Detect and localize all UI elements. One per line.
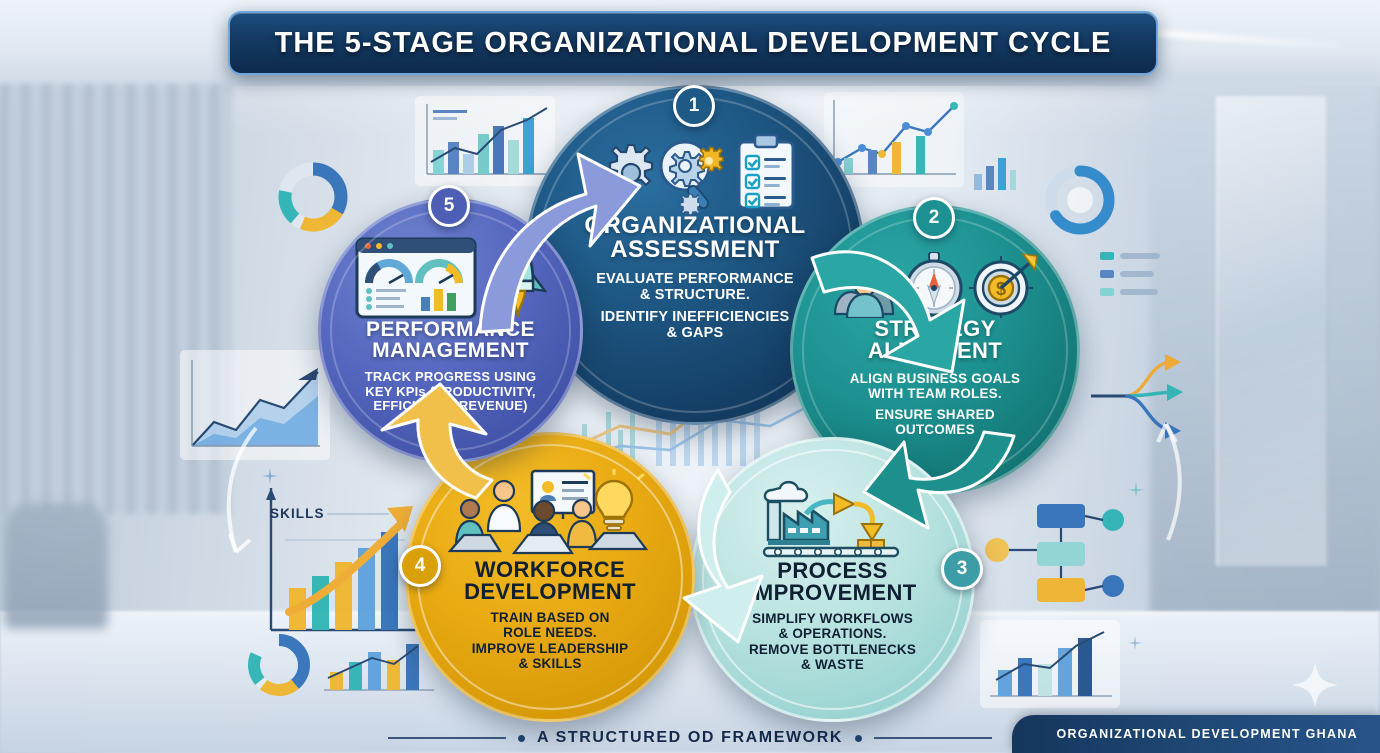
- stage-2-description: ALIGN BUSINESS GOALS WITH TEAM ROLES. EN…: [850, 371, 1021, 438]
- list-lines-decoration: [1098, 248, 1162, 308]
- plus-sparkle-icon: [1128, 636, 1142, 650]
- stage-1-title: ORGANIZATIONAL ASSESSMENT: [584, 214, 805, 263]
- page-title-bar: THE 5-STAGE ORGANIZATIONAL DEVELOPMENT C…: [228, 11, 1158, 75]
- stage-5-title-line1: PERFORMANCE: [366, 319, 535, 340]
- progress-ring-decoration: [1040, 160, 1120, 240]
- stage-1-icons: [593, 132, 797, 210]
- page-title: THE 5-STAGE ORGANIZATIONAL DEVELOPMENT C…: [275, 27, 1112, 60]
- stage-1-desc-line4: & GAPS: [596, 325, 794, 342]
- stage-5-icons: [355, 239, 547, 319]
- stage-2-desc-line2: WITH TEAM ROLES.: [850, 386, 1021, 401]
- stage-number-badge-2: 2: [913, 197, 955, 239]
- stage-5-desc-line1: TRACK PROGRESS USING: [365, 370, 537, 385]
- stage-4-title-line2: DEVELOPMENT: [464, 581, 636, 603]
- stage-3-title-line1: PROCESS: [748, 560, 916, 582]
- flowchart-decoration: [975, 490, 1135, 610]
- compass-icon: [901, 252, 967, 318]
- stage-number-badge-5: 5: [428, 185, 470, 227]
- stage-2-icons: $: [831, 252, 1039, 318]
- stage-2-title: STRATEGY ALIGNMENT: [868, 318, 1002, 363]
- stage-4-desc-line2: ROLE NEEDS.: [472, 625, 629, 640]
- mini-bar-chart-decoration: [972, 148, 1018, 192]
- stage-3-icons: [754, 482, 912, 560]
- svg-text:$: $: [996, 279, 1006, 299]
- stage-3-title: PROCESS IMPROVEMENT: [748, 560, 916, 605]
- stage-2-desc-line1: ALIGN BUSINESS GOALS: [850, 371, 1021, 386]
- stage-4-title-line1: WORKFORCE: [464, 559, 636, 581]
- stage-4-icons: [444, 473, 656, 559]
- stage-3-description: SIMPLIFY WORKFLOWS & OPERATIONS. REMOVE …: [749, 611, 916, 673]
- clipboard-checklist-icon: [735, 134, 797, 210]
- team-laptops-icon: [444, 469, 656, 559]
- stage-4-description: TRAIN BASED ON ROLE NEEDS. IMPROVE LEADE…: [472, 610, 629, 672]
- donut-chart-decoration: [276, 160, 350, 234]
- stage-3-desc-line3: REMOVE BOTTLENECKS: [749, 642, 916, 657]
- stage-1-title-line2: ASSESSMENT: [584, 238, 805, 262]
- brand-label: ORGANIZATIONAL DEVELOPMENT GHANA: [1056, 727, 1358, 741]
- rocket-icon: [489, 235, 547, 319]
- footer-dot-right: [855, 735, 862, 742]
- plus-sparkle-icon: [262, 468, 278, 484]
- stage-3-title-line2: IMPROVEMENT: [748, 582, 916, 604]
- cloud-icon: [764, 482, 806, 501]
- footer-dot-left: [518, 735, 525, 742]
- footer-caption: A STRUCTURED OD FRAMEWORK: [537, 729, 843, 747]
- skills-label: SKILLS: [270, 506, 325, 521]
- stage-1-desc-line1: EVALUATE PERFORMANCE: [596, 271, 794, 288]
- stage-2-desc-line3: ENSURE SHARED: [850, 407, 1021, 422]
- sparkle-icon: [1290, 660, 1340, 710]
- stage-4-desc-line1: TRAIN BASED ON: [472, 610, 629, 625]
- line-chart-decoration: [824, 92, 964, 187]
- stage-1-desc-line2: & STRUCTURE.: [596, 287, 794, 304]
- footer-rule-right: [874, 737, 992, 739]
- bar-chart-decoration: [980, 620, 1120, 708]
- stage-5-title-line2: MANAGEMENT: [366, 340, 535, 361]
- stage-5-title: PERFORMANCE MANAGEMENT: [366, 319, 535, 362]
- stage-4-desc-line3: IMPROVE LEADERSHIP: [472, 641, 629, 656]
- stage-5-desc-line3: EFFICIENCY, REVENUE): [365, 399, 537, 414]
- area-chart-decoration: [180, 350, 330, 460]
- brand-badge: ORGANIZATIONAL DEVELOPMENT GHANA: [1012, 715, 1380, 753]
- stage-card-process-improvement[interactable]: PROCESS IMPROVEMENT SIMPLIFY WORKFLOWS &…: [690, 437, 975, 722]
- factory-conveyor-icon: [754, 478, 912, 560]
- stage-number-badge-3: 3: [941, 548, 983, 590]
- stage-3-desc-line4: & WASTE: [749, 657, 916, 672]
- footer-rule-left: [388, 737, 506, 739]
- stage-2-desc-line4: OUTCOMES: [850, 422, 1021, 437]
- stage-1-description: EVALUATE PERFORMANCE & STRUCTURE. IDENTI…: [596, 271, 794, 342]
- glass-partition: [1216, 96, 1328, 566]
- stage-number-badge-4: 4: [399, 545, 441, 587]
- stage-4-desc-line4: & SKILLS: [472, 656, 629, 671]
- stage-number-badge-1: 1: [673, 85, 715, 127]
- stage-card-performance-management[interactable]: PERFORMANCE MANAGEMENT TRACK PROGRESS US…: [318, 198, 583, 463]
- donut-chart-decoration: [244, 630, 314, 700]
- amber-gear-icon: [695, 146, 725, 176]
- branching-arrows-decoration: [1085, 340, 1195, 450]
- kpi-dashboard-icon: [355, 237, 479, 319]
- stage-4-title: WORKFORCE DEVELOPMENT: [464, 559, 636, 604]
- stage-2-title-line1: STRATEGY: [868, 318, 1002, 340]
- infographic-canvas: SKILLS: [0, 0, 1380, 753]
- stage-3-desc-line1: SIMPLIFY WORKFLOWS: [749, 611, 916, 626]
- stage-card-workforce-development[interactable]: WORKFORCE DEVELOPMENT TRAIN BASED ON ROL…: [405, 432, 695, 722]
- office-chair: [4, 503, 108, 629]
- target-coin-arrow-icon: $: [967, 252, 1039, 318]
- stage-5-desc-line2: KEY KPIs (PRODUCTIVITY,: [365, 385, 537, 400]
- stage-2-title-line2: ALIGNMENT: [868, 340, 1002, 362]
- plus-sparkle-icon: [1128, 482, 1144, 498]
- stage-3-desc-line2: & OPERATIONS.: [749, 626, 916, 641]
- people-group-icon: [831, 256, 901, 318]
- bar-line-chart-decoration: [415, 96, 555, 186]
- stage-1-desc-line3: IDENTIFY INEFFICIENCIES: [596, 309, 794, 326]
- stage-1-title-line1: ORGANIZATIONAL: [584, 214, 805, 238]
- stage-5-description: TRACK PROGRESS USING KEY KPIs (PRODUCTIV…: [365, 370, 537, 414]
